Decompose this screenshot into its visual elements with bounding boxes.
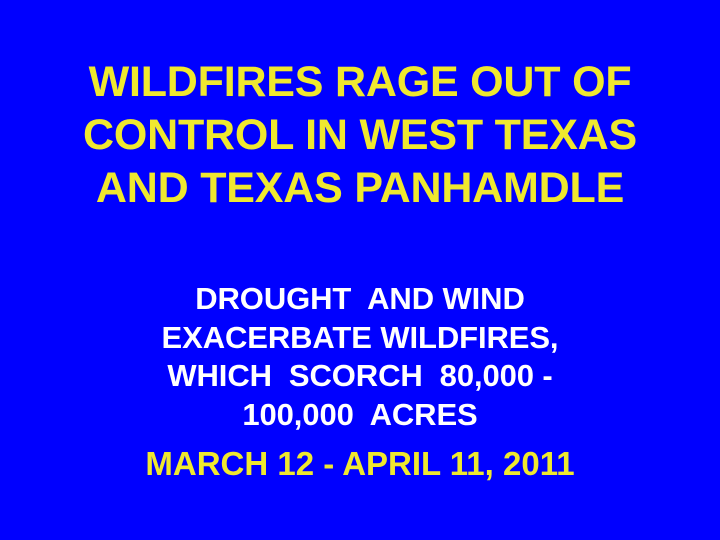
title-line-3: AND TEXAS PANHAMDLE <box>0 162 720 215</box>
presentation-slide: WILDFIRES RAGE OUT OF CONTROL IN WEST TE… <box>0 0 720 540</box>
body-line-2: EXACERBATE WILDFIRES, <box>0 319 720 358</box>
body-line-1: DROUGHT AND WIND <box>0 280 720 319</box>
body-line-4: 100,000 ACRES <box>0 396 720 435</box>
date-range-text: MARCH 12 - APRIL 11, 2011 <box>0 443 720 484</box>
title-line-1: WILDFIRES RAGE OUT OF <box>0 56 720 109</box>
body-line-3: WHICH SCORCH 80,000 - <box>0 357 720 396</box>
slide-date-range: MARCH 12 - APRIL 11, 2011 <box>0 443 720 484</box>
slide-title: WILDFIRES RAGE OUT OF CONTROL IN WEST TE… <box>0 56 720 215</box>
slide-body-text: DROUGHT AND WIND EXACERBATE WILDFIRES, W… <box>0 280 720 434</box>
title-line-2: CONTROL IN WEST TEXAS <box>0 109 720 162</box>
